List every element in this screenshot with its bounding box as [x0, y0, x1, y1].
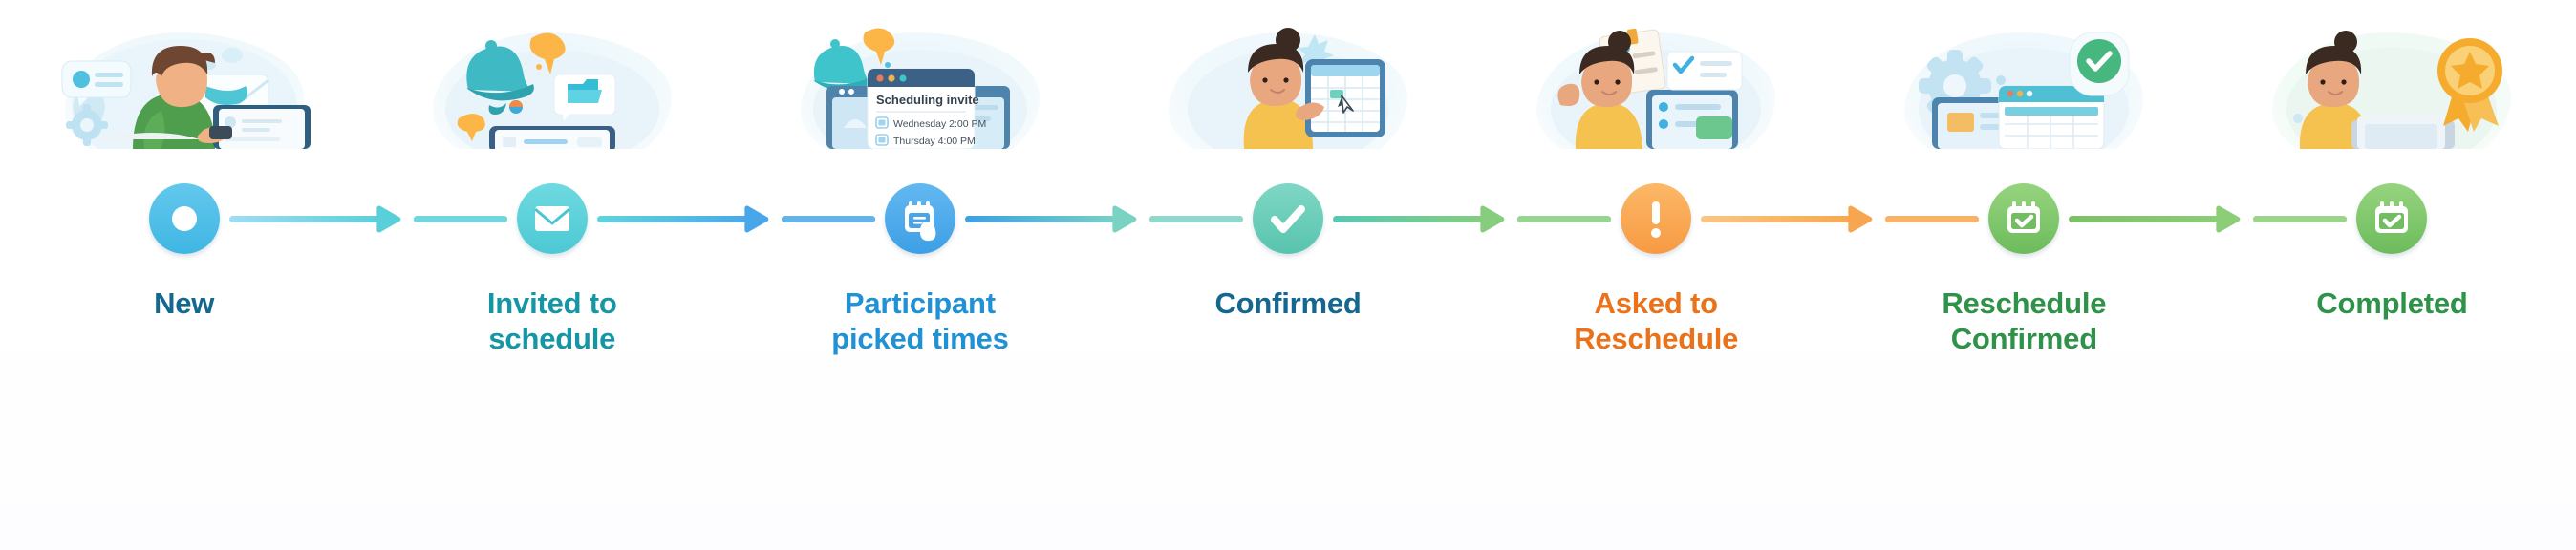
illustration-invited-to-schedule [409, 6, 696, 149]
step-label-participant-picked-times: Participant picked times [831, 286, 1008, 356]
illustration-completed [2248, 6, 2535, 149]
flow-step-asked-to-reschedule[interactable]: Asked to Reschedule [1472, 0, 1840, 550]
flow-step-completed[interactable]: Completed [2208, 0, 2576, 550]
status-node-confirmed[interactable] [1253, 183, 1323, 254]
green-check-badge [2070, 32, 2129, 95]
exclamation-icon [1621, 183, 1691, 254]
flow-step-new[interactable]: New [0, 0, 368, 550]
node-row [368, 176, 736, 262]
illustration-reschedule-confirmed [1880, 6, 2167, 149]
status-flow-diagram: New [0, 0, 2576, 550]
node-row [1840, 176, 2208, 262]
illustration-confirmed [1145, 6, 1431, 149]
illustration-asked-to-reschedule [1513, 6, 1799, 149]
step-label-asked-to-reschedule: Asked to Reschedule [1574, 286, 1738, 356]
calendar-cursor-icon [885, 183, 955, 254]
step-label-completed: Completed [2316, 286, 2467, 322]
calendar-check-icon [1988, 183, 2059, 254]
flow-step-confirmed[interactable]: Confirmed [1105, 0, 1472, 550]
svg-text:Thursday 4:00 PM: Thursday 4:00 PM [893, 136, 976, 147]
svg-text:Scheduling invite: Scheduling invite [876, 93, 979, 107]
step-label-invited-to-schedule: Invited to schedule [487, 286, 617, 356]
check-icon [1253, 183, 1323, 254]
step-label-new: New [154, 286, 214, 322]
status-node-reschedule-confirmed[interactable] [1988, 183, 2059, 254]
flow-step-reschedule-confirmed[interactable]: Reschedule Confirmed [1840, 0, 2208, 550]
node-row [736, 176, 1104, 262]
status-node-completed[interactable] [2356, 183, 2427, 254]
svg-text:Wednesday 2:00 PM: Wednesday 2:00 PM [893, 118, 986, 130]
flow-step-participant-picked-times[interactable]: Scheduling invite Wednesday 2:00 PM Thur… [736, 0, 1104, 550]
status-node-asked-to-reschedule[interactable] [1621, 183, 1691, 254]
envelope-icon [517, 183, 588, 254]
step-label-confirmed: Confirmed [1214, 286, 1361, 322]
calendar-check-icon [2356, 183, 2427, 254]
scheduling-invite-window: Scheduling invite Wednesday 2:00 PM Thur… [868, 69, 986, 149]
status-node-invited-to-schedule[interactable] [517, 183, 588, 254]
illustration-new [41, 6, 328, 149]
illustration-participant-picked-times: Scheduling invite Wednesday 2:00 PM Thur… [777, 6, 1063, 149]
node-row [1105, 176, 1472, 262]
node-row [2208, 176, 2576, 262]
ring-dot-icon [149, 183, 220, 254]
node-row [1472, 176, 1840, 262]
status-node-participant-picked-times[interactable] [885, 183, 955, 254]
award-medal-glyph [2437, 38, 2502, 132]
flow-step-invited-to-schedule[interactable]: Invited to schedule [368, 0, 736, 550]
status-node-new[interactable] [149, 183, 220, 254]
node-row [0, 176, 368, 262]
step-label-reschedule-confirmed: Reschedule Confirmed [1942, 286, 2106, 356]
